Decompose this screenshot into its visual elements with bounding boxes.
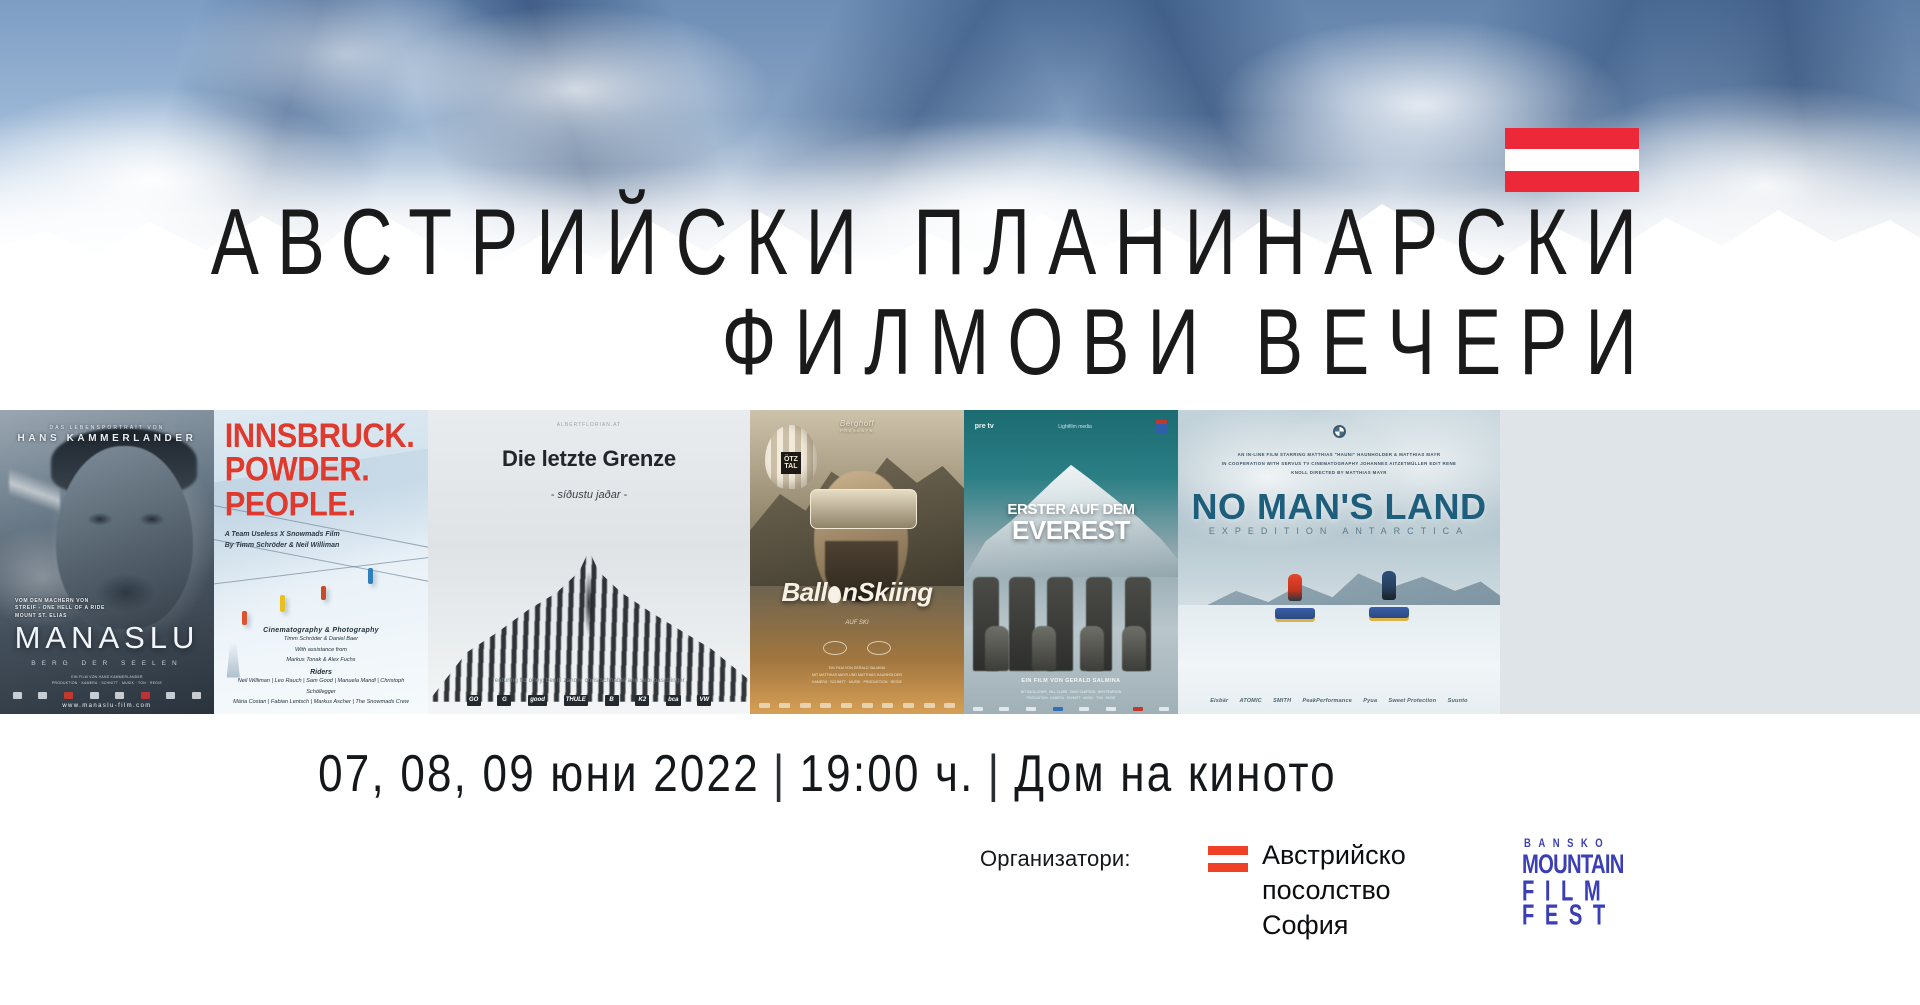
- title-line-1: АВСТРИЙСКИ ПЛАНИНАРСКИ: [0, 193, 1655, 294]
- sponsor-logo-eisbar: Eisbär: [1210, 697, 1228, 705]
- nml-credits-line-1: AN IN-LINE FILM STARRING MATTHIAS "HAUNI…: [1238, 452, 1441, 457]
- nml-credits-line-2: IN COOPERATION WITH SERVUS TV CINEMATOGR…: [1222, 461, 1457, 475]
- film-poster-innsbruck-powder-people[interactable]: INNSBRUCK. POWDER. PEOPLE. A Team Useles…: [214, 410, 428, 714]
- ballonskiing-award-laurels: [750, 641, 964, 655]
- everest-sponsor-logos: [973, 707, 1170, 711]
- sponsor-logo: [779, 703, 790, 708]
- sponsor-logo-pyua: Pyua: [1363, 697, 1377, 705]
- film-poster-no-mans-land[interactable]: AN IN-LINE FILM STARRING MATTHIAS "HAUNI…: [1178, 410, 1500, 714]
- team-member-kneeling: [1122, 626, 1146, 672]
- event-details: 07, 08, 09 юни 2022|19:00 ч.|Дом на кино…: [0, 745, 1655, 804]
- sponsor-logo-smith: SMITH: [1273, 697, 1291, 705]
- partner-logo: Lightfilm media: [1058, 424, 1092, 430]
- nml-title: NO MAN'S LAND: [1178, 486, 1500, 528]
- film-poster-strip: DAS LEBENSPORTRAIT VON HANS KAMMERLANDER…: [0, 410, 1920, 714]
- manaslu-sponsor-logos: [13, 692, 201, 699]
- sponsor-logo: [1053, 707, 1063, 711]
- flag-band-white: [1208, 855, 1248, 864]
- sponsor-logo-k2: K2: [635, 695, 649, 706]
- innsbruck-credit-line-1: A Team Useless X Snowmads Film: [225, 531, 340, 538]
- sponsor-logo-thule: THULE: [564, 695, 588, 706]
- film-poster-die-letzte-grenze[interactable]: ALBERTFLORIAN.AT Die letzte Grenze - síð…: [428, 410, 750, 714]
- ballonskiing-title-left: Ball: [781, 577, 827, 607]
- sponsor-logo-b: B: [605, 695, 619, 706]
- poster-root: АВСТРИЙСКИ ПЛАНИНАРСКИ ФИЛМОВИ ВЕЧЕРИ DA…: [0, 0, 1920, 1005]
- ballonskiing-title-right: nSkiing: [842, 577, 932, 607]
- skier-figure: [280, 595, 285, 612]
- sponsor-logo: [1026, 707, 1036, 711]
- sponsor-logo-peakperformance: PeakPerformance: [1303, 697, 1352, 705]
- presenter-name: Berghoff: [840, 419, 874, 428]
- sponsor-logo: [862, 703, 873, 708]
- expedition-team-photo: [964, 519, 1178, 671]
- award-laurel-icon: [867, 641, 891, 655]
- team-member-kneeling: [985, 626, 1009, 672]
- team-member-kneeling: [1032, 626, 1056, 672]
- grenze-url: ALBERTFLORIAN.AT: [428, 422, 750, 428]
- manaslu-header-text: DAS LEBENSPORTRAIT VON HANS KAMMERLANDER: [0, 425, 214, 444]
- flag-band-red-bottom: [1505, 171, 1639, 192]
- explorer-body: [1382, 571, 1396, 600]
- innsbruck-cinematography-names: Timm Schröder & Daniel Baer: [227, 634, 415, 645]
- organizer-austrian-embassy[interactable]: Австрийско посолство София: [1208, 838, 1498, 943]
- detail-separator-1: |: [760, 745, 800, 804]
- sponsor-logo: [64, 692, 73, 699]
- flag-band-white: [1505, 149, 1639, 170]
- innsbruck-title-line-3: PEOPLE.: [225, 484, 356, 523]
- explorer-body: [1288, 574, 1302, 601]
- nml-sponsor-logos: Eisbär ATOMIC SMITH PeakPerformance Pyua…: [1210, 697, 1468, 705]
- skier-figure: [242, 611, 247, 625]
- innsbruck-bottom-credits: Cinematography & Photography Timm Schröd…: [227, 627, 415, 708]
- sponsor-logo: [1106, 707, 1116, 711]
- sponsor-logo-sweet-protection: Sweet Protection: [1388, 697, 1436, 705]
- manaslu-title: MANASLU: [0, 620, 214, 656]
- sponsor-logo: [141, 692, 150, 699]
- sponsor-logo: [903, 703, 914, 708]
- skier-figure: [368, 568, 373, 584]
- nml-top-credits: AN IN-LINE FILM STARRING MATTHIAS "HAUNI…: [1217, 450, 1462, 478]
- sponsor-logo-go: GO: [467, 695, 481, 706]
- austria-institute-icon: [1156, 420, 1167, 434]
- flag-band-red-top: [1208, 846, 1248, 855]
- sponsor-logo-g: G: [497, 695, 511, 706]
- innsbruck-credit: A Team Useless X Snowmads Film By Timm S…: [225, 529, 422, 553]
- sponsor-logo-bca: bca: [666, 695, 680, 706]
- innsbruck-riders-heading: Riders: [227, 669, 415, 676]
- sponsor-logo: [13, 692, 22, 699]
- sponsor-logo-suunto: Suunto: [1448, 697, 1468, 705]
- detail-separator-2: |: [975, 745, 1015, 804]
- nml-subtitle: EXPEDITION ANTARCTICA: [1178, 526, 1500, 536]
- manaslu-subtitle: BERG DER SEELEN: [0, 660, 214, 667]
- innsbruck-riders-names: Neil Williman | Leo Rauch | Sam Good | M…: [227, 676, 415, 708]
- everest-partner-bar: pre tv Lightfilm media: [964, 416, 1178, 437]
- film-poster-erster-auf-dem-everest[interactable]: pre tv Lightfilm media ERSTER AUF DEM EV…: [964, 410, 1178, 714]
- manaslu-credits: EIN FILM VON HANS KAMMERLANDER PRODUKTIO…: [13, 674, 201, 687]
- broadcaster-logo: pre tv: [975, 423, 994, 430]
- innsbruck-cinematography-heading: Cinematography & Photography: [227, 627, 415, 634]
- sponsor-logo: [973, 707, 983, 711]
- innsbruck-assistance: With assistance from Markus Tonak & Alex…: [227, 645, 415, 666]
- ballonskiing-subtitle: AUF SKI: [750, 620, 964, 626]
- hot-air-balloon-icon: ÖTZ TAL: [765, 425, 817, 489]
- bmw-roundel-icon: [1333, 425, 1346, 438]
- polar-explorer-red: [1284, 574, 1306, 616]
- grenze-sponsor-logos: GO G good THULE B K2 bca VW: [467, 695, 712, 706]
- organizer-bansko-mountain-film-fest-logo[interactable]: BANSKO MOUNTAIN FILM FEST: [1522, 838, 1618, 924]
- film-poster-manaslu[interactable]: DAS LEBENSPORTRAIT VON HANS KAMMERLANDER…: [0, 410, 214, 714]
- event-dates: 07, 08, 09 юни 2022: [318, 745, 760, 803]
- event-venue: Дом на киното: [1014, 745, 1337, 803]
- sponsor-logo: [841, 703, 852, 708]
- team-member: [1009, 577, 1035, 671]
- sponsor-logo: [759, 703, 770, 708]
- manaslu-subject: HANS KAMMERLANDER: [0, 433, 214, 444]
- title-line-2: ФИЛМОВИ ВЕЧЕРИ: [0, 293, 1655, 394]
- polar-explorer-blue: [1378, 571, 1400, 615]
- embassy-name: Австрийско посолство София: [1262, 838, 1406, 943]
- grenze-title: Die letzte Grenze: [428, 446, 750, 472]
- sponsor-logo-vw: VW: [697, 695, 711, 706]
- sponsor-logo: [38, 692, 47, 699]
- innsbruck-title: INNSBRUCK. POWDER. PEOPLE.: [225, 419, 422, 521]
- sponsor-logo: [192, 692, 201, 699]
- sponsor-logo: [944, 703, 955, 708]
- innsbruck-credit-line-2: By Timm Schröder & Neil Williman: [225, 542, 340, 549]
- sponsor-logo: [166, 692, 175, 699]
- event-time: 19:00 ч.: [800, 745, 975, 803]
- organizers-label: Организатори:: [980, 838, 1208, 872]
- organizers-section: Организатори: Австрийско посолство София…: [980, 838, 1680, 943]
- sponsor-logo: [1079, 707, 1089, 711]
- grenze-featuring: featuring flo orley, benni zanon, chris …: [447, 678, 730, 684]
- manaslu-url: www.manaslu-film.com: [0, 703, 214, 709]
- sponsor-logo: [924, 703, 935, 708]
- sled-icon: [1369, 607, 1409, 618]
- sponsor-logo-good: good: [528, 695, 547, 706]
- sponsor-logo: [820, 703, 831, 708]
- film-poster-ballonskiing[interactable]: Berghoff PRESENTS ÖTZ TAL BallnSkiing AU…: [750, 410, 964, 714]
- sponsor-logo: [90, 692, 99, 699]
- sponsor-logo: [1159, 707, 1169, 711]
- sponsor-logo: [1133, 707, 1143, 711]
- manaslu-laurels: VOM DEN MACHERN VON STREIF - ONE HELL OF…: [15, 598, 105, 620]
- team-member-kneeling: [1080, 626, 1104, 672]
- ballonskiing-title: BallnSkiing: [759, 577, 956, 608]
- bmff-line-mountain: MOUNTAIN: [1522, 851, 1610, 878]
- sponsor-logo: [999, 707, 1009, 711]
- skier-figure: [321, 586, 326, 600]
- halftone-mountain-graphic: [428, 526, 750, 702]
- everest-fine-credits: MIT SAGA LEWIS · BILL CLARK · DAVE SAMPS…: [973, 689, 1170, 702]
- austrian-flag-icon: [1208, 846, 1248, 872]
- austrian-flag-icon: [1505, 128, 1639, 192]
- flag-band-red-top: [1505, 128, 1639, 149]
- sponsor-logo-atomic: ATOMIC: [1239, 697, 1261, 705]
- sponsor-logo: [800, 703, 811, 708]
- balloon-sponsor-label: ÖTZ TAL: [781, 452, 802, 474]
- sled-icon: [1275, 608, 1315, 619]
- grenze-subtitle: - síðustu jaðar -: [428, 489, 750, 501]
- manaslu-tagline: DAS LEBENSPORTRAIT VON: [0, 425, 214, 431]
- ballonskiing-sponsor-logos: [759, 703, 956, 708]
- page-title: АВСТРИЙСКИ ПЛАНИНАРСКИ ФИЛМОВИ ВЕЧЕРИ: [0, 205, 1655, 383]
- sponsor-logo: [882, 703, 893, 708]
- flag-band-red-bottom: [1208, 863, 1248, 872]
- sponsor-logo: [115, 692, 124, 699]
- ski-goggles-icon: [810, 489, 917, 529]
- bmff-line-fest: FEST: [1522, 900, 1614, 933]
- ballonskiing-credits: EIN FILM VON GERALD SALMINA MIT MATTHIAS…: [761, 665, 954, 687]
- everest-director-credit: EIN FILM VON GERALD SALMINA: [973, 678, 1170, 684]
- award-laurel-icon: [823, 641, 847, 655]
- balloon-glyph-icon: [828, 586, 841, 603]
